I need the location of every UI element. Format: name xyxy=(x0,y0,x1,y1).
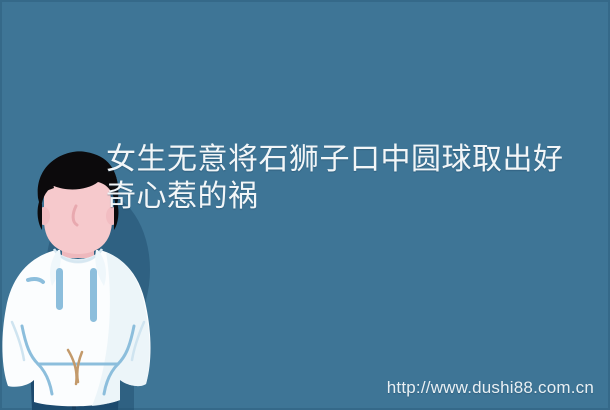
headline-line-1: 女生无意将石狮子口中圆球取出好 xyxy=(106,141,576,178)
article-thumbnail-canvas: 女生无意将石狮子口中圆球取出好 奇心惹的祸 http://www.dushi88… xyxy=(0,0,610,410)
page-title: 女生无意将石狮子口中圆球取出好 奇心惹的祸 xyxy=(106,141,576,215)
headline-line-2: 奇心惹的祸 xyxy=(106,178,576,215)
watermark-url: http://www.dushi88.com.cn xyxy=(387,378,594,398)
